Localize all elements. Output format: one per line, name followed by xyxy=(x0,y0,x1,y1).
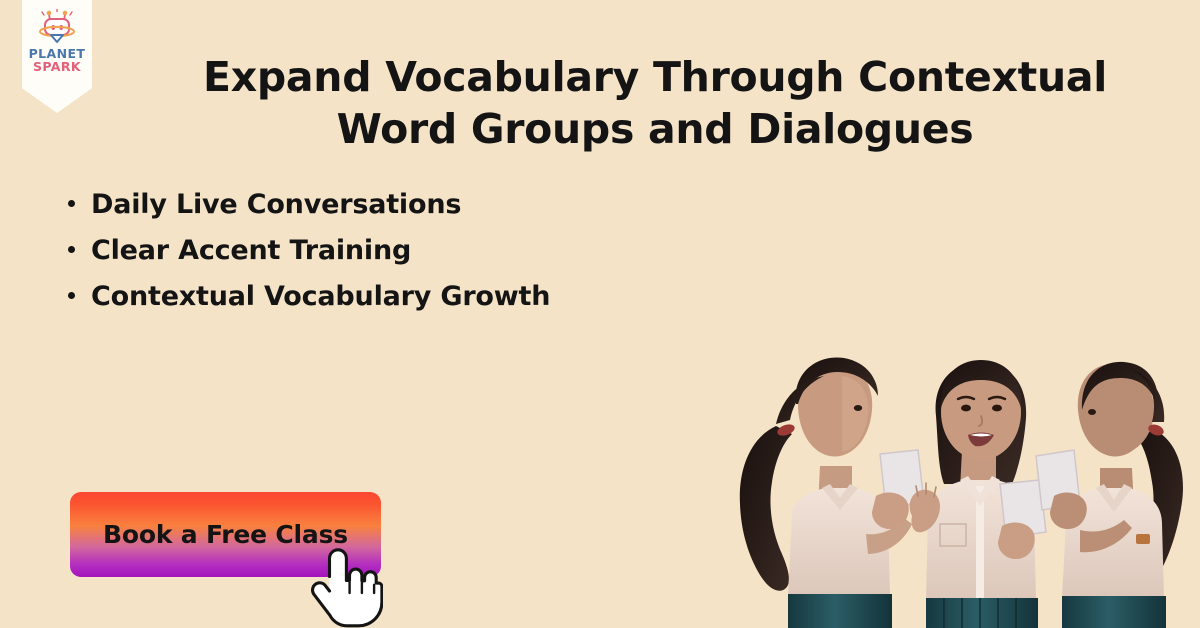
logo-word-spark: SPARK xyxy=(33,60,81,73)
page-title: Expand Vocabulary Through Contextual Wor… xyxy=(150,51,1160,155)
list-item: Contextual Vocabulary Growth xyxy=(68,280,550,314)
bullet-dot-icon xyxy=(68,246,75,253)
planetspark-logo[interactable]: PLANET SPARK xyxy=(22,0,92,113)
feature-list: Daily Live Conversations Clear Accent Tr… xyxy=(68,188,550,326)
bullet-dot-icon xyxy=(68,292,75,299)
feature-label: Clear Accent Training xyxy=(91,234,411,268)
promo-banner: PLANET SPARK Expand Vocabulary Through C… xyxy=(0,0,1200,628)
list-item: Daily Live Conversations xyxy=(68,188,550,222)
bullet-dot-icon xyxy=(68,200,75,207)
feature-label: Daily Live Conversations xyxy=(91,188,461,222)
feature-label: Contextual Vocabulary Growth xyxy=(91,280,550,314)
students-photo xyxy=(700,338,1200,628)
robot-planet-icon xyxy=(36,9,78,45)
three-schoolgirls-illustration xyxy=(700,338,1200,628)
book-free-class-button[interactable]: Book a Free Class xyxy=(70,492,381,577)
list-item: Clear Accent Training xyxy=(68,234,550,268)
